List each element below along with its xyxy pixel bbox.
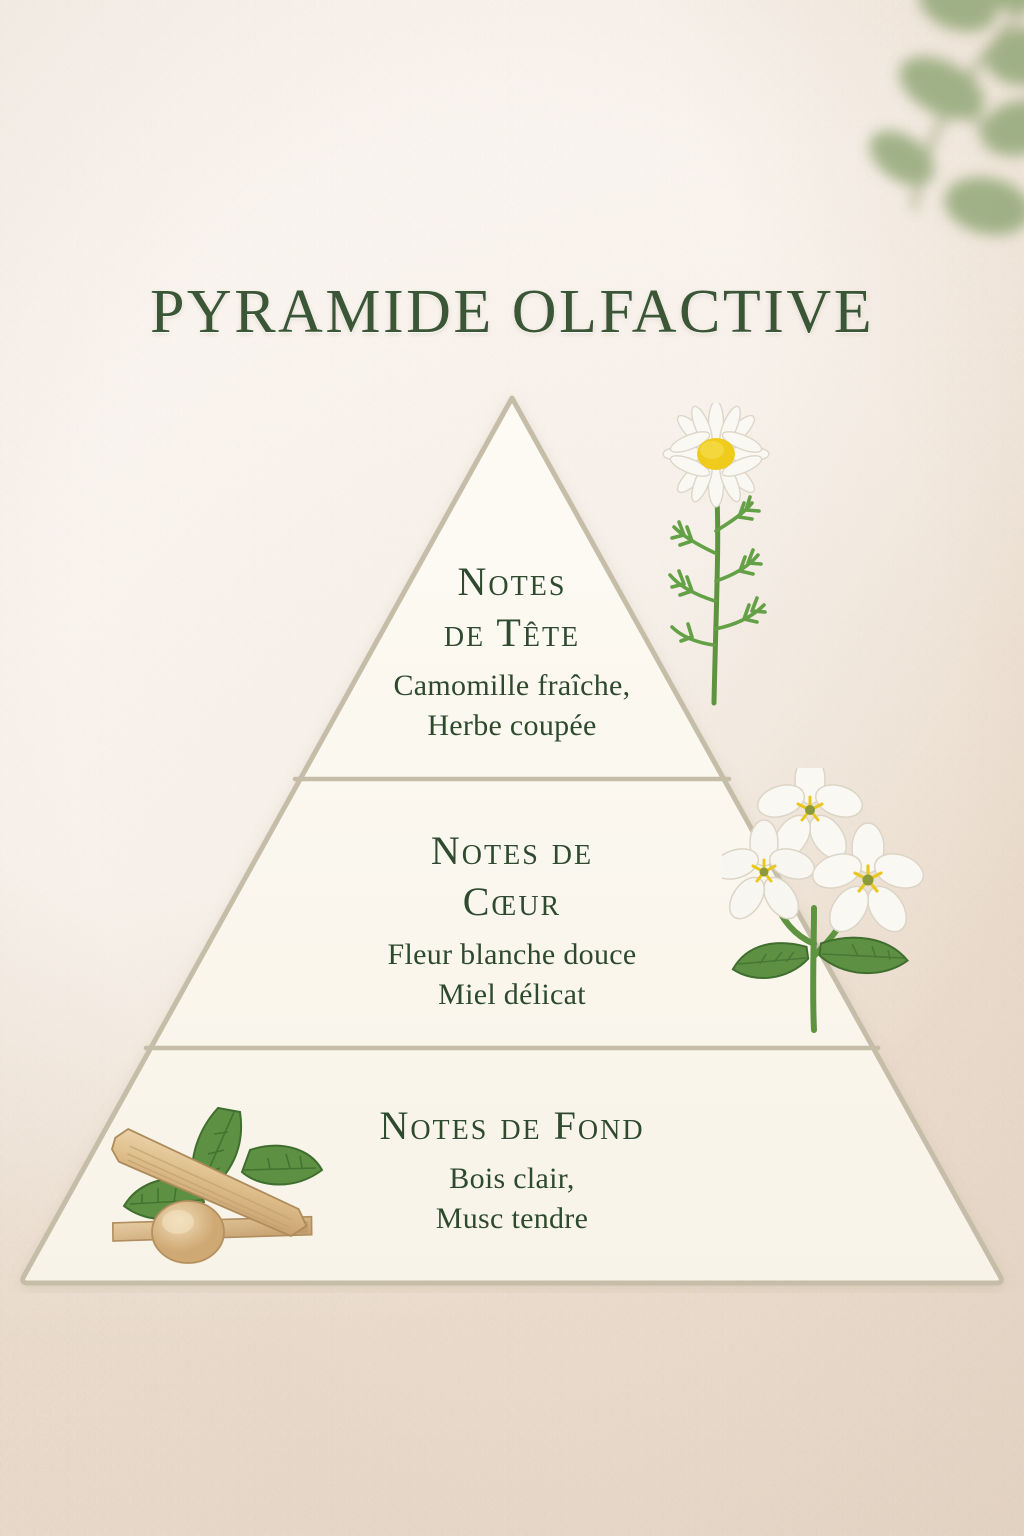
page-title: PYRAMIDE OLFACTIVE bbox=[0, 277, 1024, 348]
tier-top-description: Camomille fraîche, Herbe coupée bbox=[0, 666, 1024, 746]
pyramid-tier-top[interactable]: Notes de Tête Camomille fraîche, Herbe c… bbox=[0, 556, 1024, 746]
tier-top-title: Notes de Tête bbox=[0, 556, 1024, 658]
pyramid-tier-base[interactable]: Notes de Fond Bois clair, Musc tendre bbox=[0, 1100, 1024, 1239]
tier-heart-description: Fleur blanche douce Miel délicat bbox=[0, 935, 1024, 1015]
tier-heart-title: Notes de Cœur bbox=[0, 825, 1024, 927]
pyramid-tier-heart[interactable]: Notes de Cœur Fleur blanche douce Miel d… bbox=[0, 825, 1024, 1015]
tier-base-description: Bois clair, Musc tendre bbox=[0, 1159, 1024, 1239]
eucalyptus-branch-icon bbox=[774, 0, 1024, 260]
tier-base-title: Notes de Fond bbox=[0, 1100, 1024, 1151]
olfactory-pyramid: Notes de Tête Camomille fraîche, Herbe c… bbox=[0, 388, 1024, 1293]
